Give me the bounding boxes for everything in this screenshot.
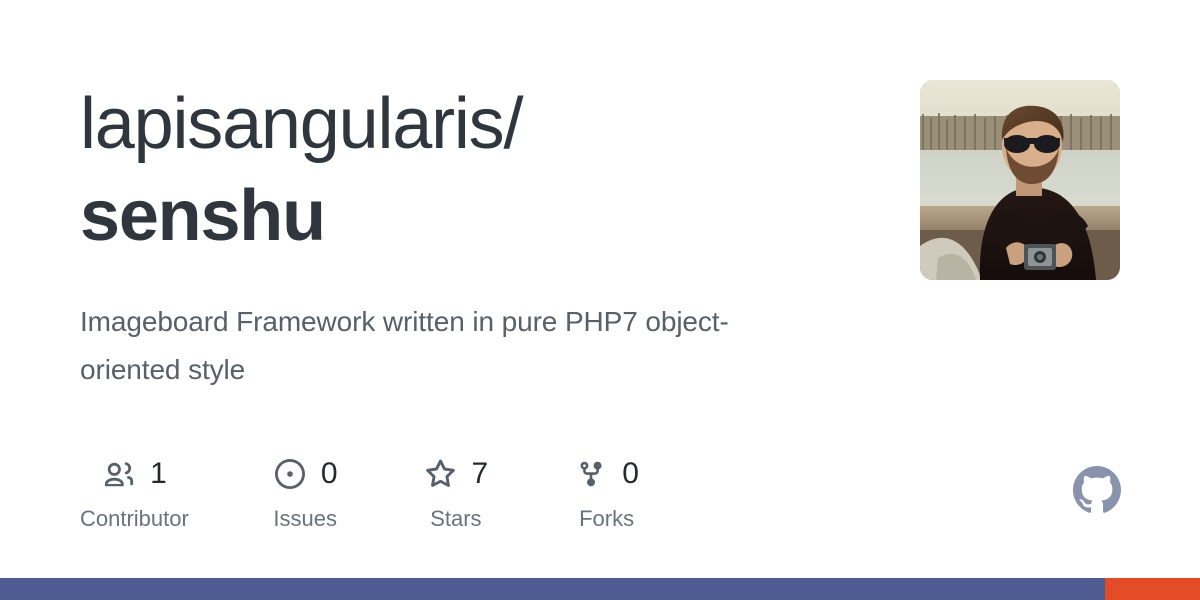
stat-forks-label: Forks bbox=[579, 508, 634, 530]
repository-description: Imageboard Framework written in pure PHP… bbox=[80, 262, 780, 394]
page-title: lapisangularis/senshu bbox=[80, 78, 870, 262]
repository-info: lapisangularis/senshu Imageboard Framewo… bbox=[80, 78, 870, 395]
stat-stars-value: 7 bbox=[472, 459, 489, 489]
repository-owner: lapisangularis/ bbox=[80, 84, 522, 164]
language-bar bbox=[0, 578, 1200, 600]
github-logo-icon bbox=[1073, 466, 1121, 514]
stat-issues-value: 0 bbox=[321, 459, 338, 489]
people-icon bbox=[102, 457, 136, 491]
repository-social-preview-card: lapisangularis/senshu Imageboard Framewo… bbox=[0, 0, 1200, 600]
avatar bbox=[920, 80, 1120, 280]
language-segment-php bbox=[0, 578, 1105, 600]
stat-stars: 7 Stars bbox=[424, 452, 489, 530]
stat-forks-value: 0 bbox=[622, 459, 639, 489]
repo-forked-icon bbox=[574, 457, 608, 491]
stat-contributors: 1 Contributor bbox=[80, 452, 189, 530]
repository-name: senshu bbox=[80, 170, 870, 262]
stat-contributors-value: 1 bbox=[150, 459, 167, 489]
stat-forks-top: 0 bbox=[574, 452, 639, 496]
repository-stats: 1 Contributor 0 Issues bbox=[80, 452, 639, 530]
stat-issues-top: 0 bbox=[273, 452, 338, 496]
star-icon bbox=[424, 457, 458, 491]
issue-opened-icon bbox=[273, 457, 307, 491]
stat-issues: 0 Issues bbox=[273, 452, 338, 530]
stat-issues-label: Issues bbox=[273, 508, 337, 530]
stat-contributors-label: Contributor bbox=[80, 508, 189, 530]
stat-contributors-top: 1 bbox=[102, 452, 167, 496]
stat-stars-top: 7 bbox=[424, 452, 489, 496]
stat-forks: 0 Forks bbox=[574, 452, 639, 530]
stat-stars-label: Stars bbox=[430, 508, 481, 530]
language-segment-html bbox=[1105, 578, 1200, 600]
